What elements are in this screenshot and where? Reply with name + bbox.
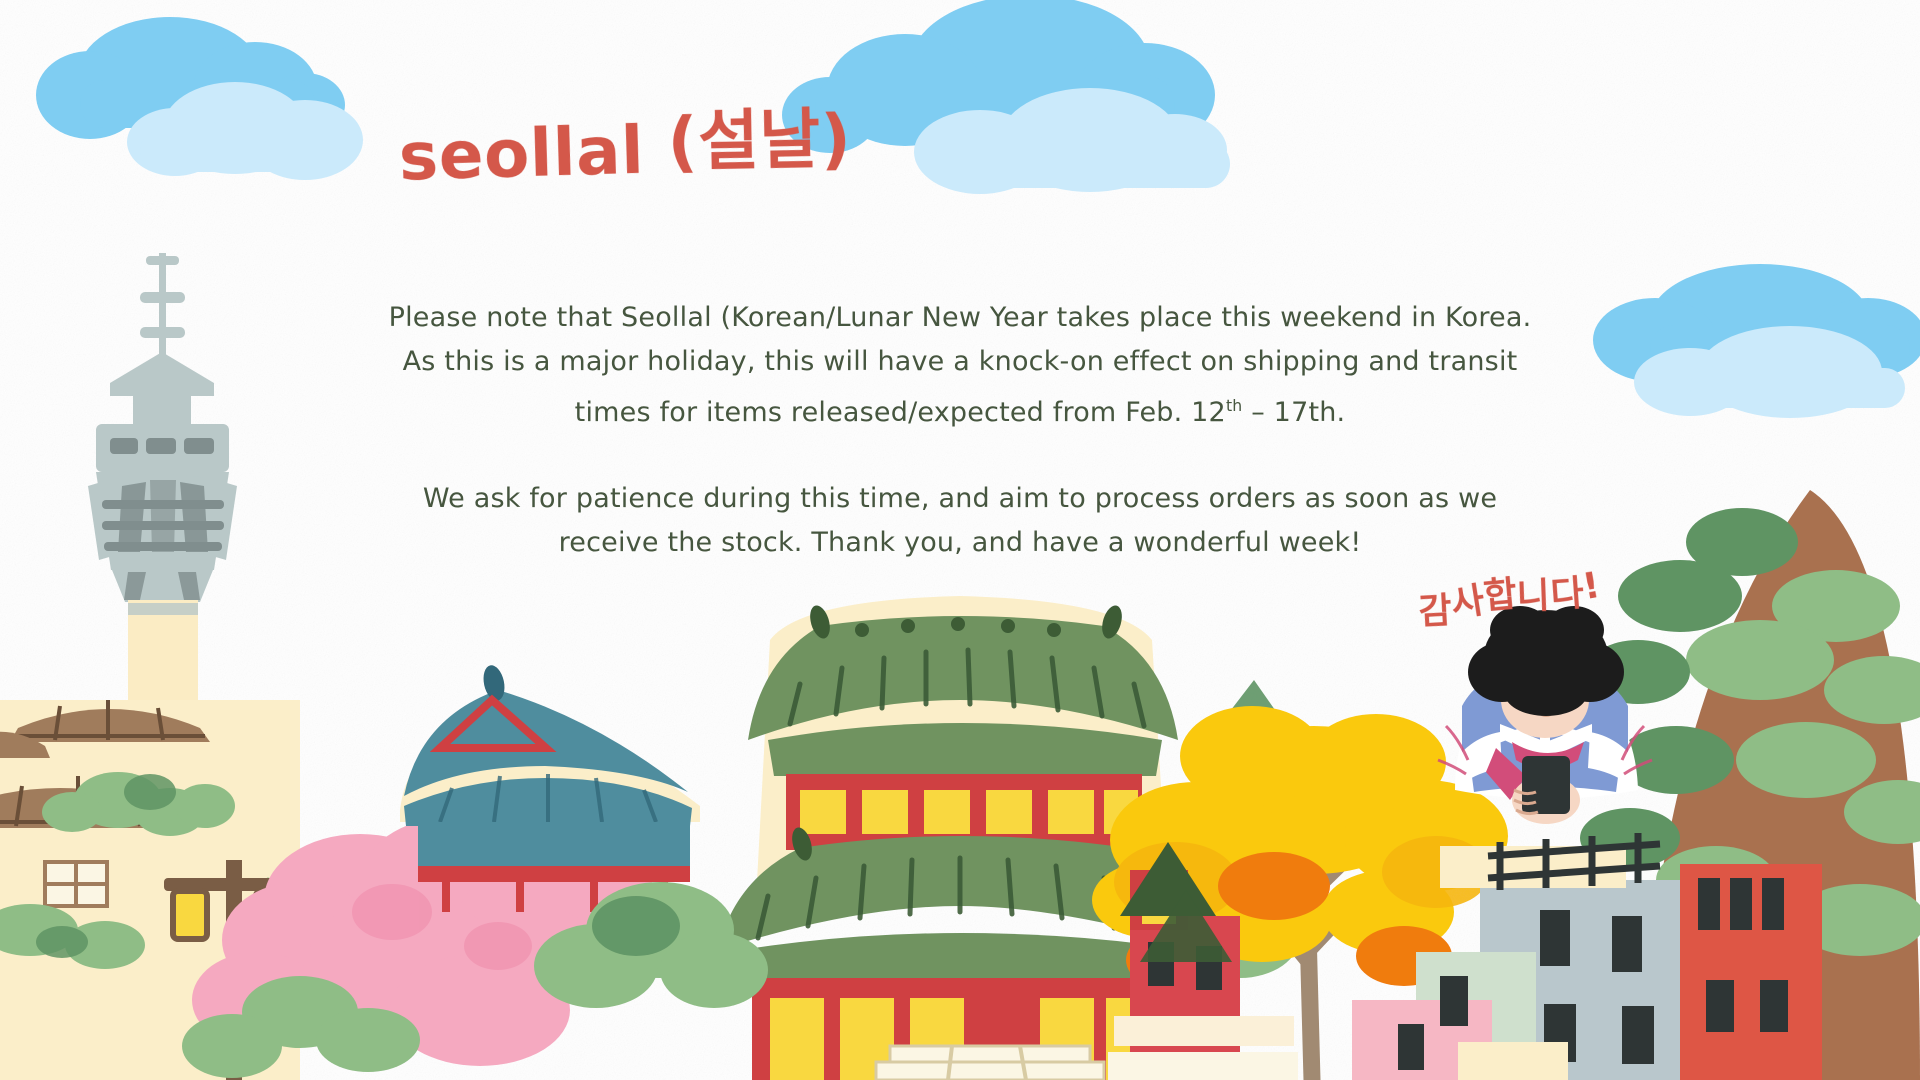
poster-canvas: seollal (설날) Please note that Seollal (K… — [0, 0, 1920, 1080]
cloud-top-left-icon — [36, 17, 363, 180]
paragraph-one-text: Please note that Seollal (Korean/Lunar N… — [389, 302, 1532, 428]
paragraph-one-superscript: th — [1226, 396, 1242, 415]
paragraph-gap — [380, 435, 1540, 477]
paragraph-two: We ask for patience during this time, an… — [380, 477, 1540, 565]
paragraph-one-tail: – 17th. — [1242, 397, 1345, 428]
bowing-person-icon — [1438, 606, 1652, 824]
cloud-right-icon — [1593, 264, 1920, 418]
cloud-top-center-icon — [782, 0, 1230, 194]
announcement-body: Please note that Seollal (Korean/Lunar N… — [380, 296, 1540, 565]
blue-roof-pavilion-icon — [400, 663, 700, 912]
paragraph-one: Please note that Seollal (Korean/Lunar N… — [380, 296, 1540, 435]
